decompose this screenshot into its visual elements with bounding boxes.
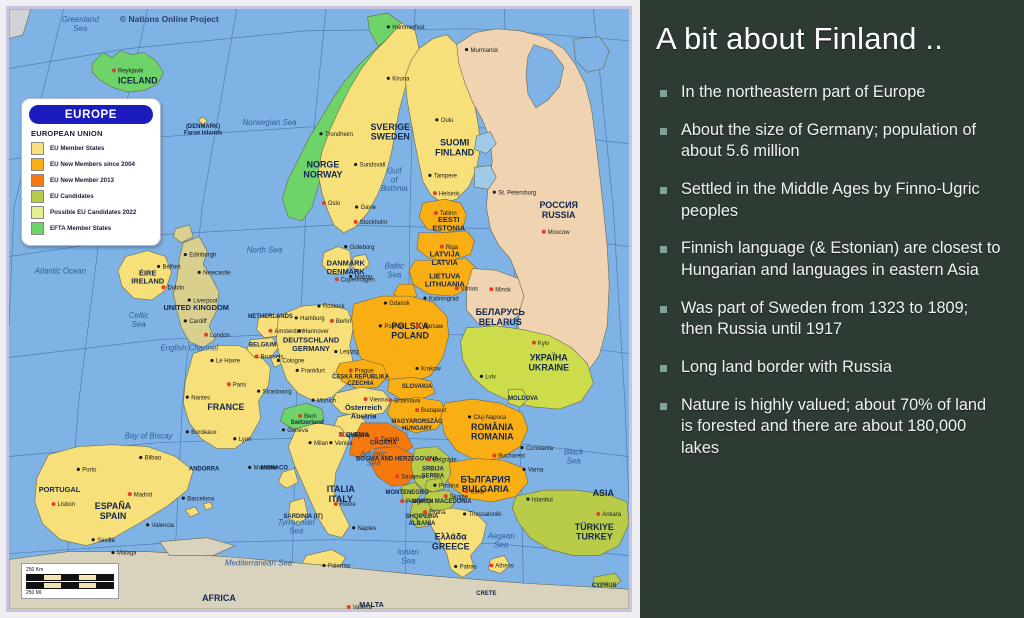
city-dot bbox=[522, 468, 525, 471]
city-dot bbox=[454, 565, 457, 568]
scale-mi-label: 250 Ml. bbox=[26, 590, 114, 596]
capital-dot bbox=[388, 398, 392, 402]
city-label: Rostock bbox=[323, 304, 344, 310]
country-label: NORGE bbox=[307, 159, 340, 169]
city-label: Newcastle bbox=[203, 271, 231, 277]
capital-dot bbox=[335, 277, 339, 281]
city-label: Vilnius bbox=[461, 286, 478, 292]
country-label: FINLAND bbox=[435, 148, 475, 158]
capital-dot bbox=[440, 245, 444, 249]
bullet-text: Was part of Sweden from 1323 to 1809; th… bbox=[681, 298, 1001, 341]
country-label: SERBIA bbox=[422, 473, 445, 479]
legend-rows: EU Member StatesEU New Members since 200… bbox=[22, 142, 160, 235]
map-pane: GreenlandSeaNorwegian SeaAtlantic OceanN… bbox=[0, 0, 640, 618]
city-label: Trondheim bbox=[325, 132, 353, 138]
capital-dot bbox=[128, 492, 132, 496]
city-label: Porto bbox=[82, 468, 97, 474]
capital-dot bbox=[268, 329, 272, 333]
city-label: Milan bbox=[314, 441, 328, 447]
city-label: Sevilla bbox=[97, 538, 115, 544]
city-label: Valletta bbox=[353, 605, 373, 609]
country-label: IRELAND bbox=[131, 277, 165, 286]
map-scale-bar: 250 Km 250 Ml. bbox=[21, 563, 119, 600]
legend-entry: EU New Member 2013 bbox=[31, 174, 160, 187]
city-label: Vienna bbox=[370, 397, 389, 403]
sea-label: Sea bbox=[494, 541, 509, 550]
city-label: Kyiv bbox=[538, 341, 549, 347]
sea-label: Bothnia bbox=[381, 184, 408, 193]
capital-dot bbox=[596, 512, 600, 516]
city-label: Hammerfest bbox=[392, 25, 425, 31]
city-label: Naples bbox=[358, 526, 377, 532]
city-label: Ljubljana bbox=[346, 433, 370, 439]
sea-label: Sea bbox=[132, 320, 147, 329]
legend-label: EU Candidates bbox=[50, 193, 94, 200]
capital-dot bbox=[255, 355, 259, 359]
city-label: Belgrade bbox=[433, 458, 457, 464]
city-label: Constanta bbox=[526, 446, 554, 452]
bullet-text: Settled in the Middle Ages by Finno-Ugri… bbox=[681, 179, 1001, 222]
city-dot bbox=[319, 132, 322, 135]
country-label: ESPAÑA bbox=[95, 501, 132, 511]
country-label: ALBANIA bbox=[409, 521, 436, 527]
country-label: LITHUANIA bbox=[425, 280, 466, 289]
capital-dot bbox=[465, 489, 469, 493]
capital-dot bbox=[374, 437, 378, 441]
city-dot bbox=[186, 396, 189, 399]
city-dot bbox=[428, 174, 431, 177]
city-label: Krakow bbox=[421, 367, 442, 373]
sea-label: Greenland bbox=[62, 15, 100, 24]
city-label: Bucharest bbox=[498, 454, 525, 460]
city-label: Belfast bbox=[163, 265, 182, 271]
sea-label: Sea bbox=[73, 24, 88, 33]
city-label: Cluj-Napoca bbox=[474, 415, 507, 421]
legend-entry: EU New Members since 2004 bbox=[31, 158, 160, 171]
country-label: NORWAY bbox=[303, 169, 342, 179]
country-label: PORTUGAL bbox=[39, 485, 81, 494]
capital-dot bbox=[330, 319, 334, 323]
city-label: Podgorica bbox=[406, 499, 433, 505]
scale-bar-km bbox=[26, 574, 114, 581]
country-label: БЪЛГАРИЯ bbox=[461, 474, 511, 484]
bullet-list: In the northeastern part of EuropeAbout … bbox=[654, 82, 1010, 460]
country-label: ROMÂNIA bbox=[471, 421, 514, 432]
city-label: Kaliningrad bbox=[429, 296, 459, 302]
capital-dot bbox=[423, 510, 427, 514]
capital-dot bbox=[455, 286, 459, 290]
legend-entry: EU Candidates bbox=[31, 190, 160, 203]
city-dot bbox=[92, 538, 95, 541]
city-label: Geneva bbox=[287, 428, 308, 434]
country-label: ITALIA bbox=[327, 484, 356, 494]
city-label: Munich bbox=[317, 398, 336, 404]
bullet-text: Nature is highly valued; about 70% of la… bbox=[681, 395, 1001, 460]
city-label: Bern bbox=[304, 414, 317, 420]
capital-dot bbox=[52, 502, 56, 506]
country-label: TURKEY bbox=[576, 532, 613, 542]
bullet-item: Long land border with Russia bbox=[654, 357, 1010, 379]
city-dot bbox=[387, 77, 390, 80]
sea-label: of bbox=[391, 175, 398, 184]
city-label: Prague bbox=[355, 369, 375, 375]
country-label: SUOMI bbox=[440, 138, 469, 148]
city-dot bbox=[468, 415, 471, 418]
legend-entry: EFTA Member States bbox=[31, 222, 160, 235]
capital-dot bbox=[364, 397, 368, 401]
city-label: St. Petersburg bbox=[498, 190, 536, 196]
city-label: Kiruna bbox=[392, 76, 410, 82]
capital-dot bbox=[444, 494, 448, 498]
city-dot bbox=[311, 399, 314, 402]
legend-label: EFTA Member States bbox=[50, 225, 111, 232]
city-dot bbox=[248, 466, 251, 469]
city-label: Athens bbox=[495, 564, 514, 570]
city-label: Bordeaux bbox=[191, 430, 216, 436]
bullet-marker-icon bbox=[660, 306, 667, 313]
country-label: CZECHIA bbox=[347, 381, 374, 387]
legend-swatch bbox=[31, 174, 44, 187]
city-label: Oslo bbox=[328, 201, 341, 207]
sea-label: North Sea bbox=[247, 246, 283, 255]
legend-swatch bbox=[31, 142, 44, 155]
city-label: Le Havre bbox=[216, 359, 241, 365]
legend-swatch bbox=[31, 206, 44, 219]
city-dot bbox=[493, 191, 496, 194]
capital-dot bbox=[395, 474, 399, 478]
bullet-item: About the size of Germany; population of… bbox=[654, 120, 1010, 163]
country-label: POLAND bbox=[391, 331, 429, 341]
capital-dot bbox=[400, 499, 404, 503]
capital-dot bbox=[433, 191, 437, 195]
country-label: УКРАЇНА bbox=[530, 352, 568, 362]
country-label: FRANCE bbox=[207, 402, 244, 412]
city-dot bbox=[257, 390, 260, 393]
country-label: SVERIGE bbox=[371, 122, 411, 132]
city-label: Minsk bbox=[495, 287, 511, 293]
bullet-marker-icon bbox=[660, 365, 667, 372]
legend-label: Possible EU Candidates 2022 bbox=[50, 209, 136, 216]
country-label: ASIA bbox=[593, 488, 615, 498]
city-label: Malaga bbox=[117, 551, 137, 557]
city-label: Venice bbox=[335, 441, 354, 447]
capital-dot bbox=[489, 287, 493, 291]
legend-entry: Possible EU Candidates 2022 bbox=[31, 206, 160, 219]
slide-title: A bit about Finland .. bbox=[656, 22, 1010, 56]
city-label: Moscow bbox=[548, 230, 570, 236]
country-label: AFRICA bbox=[202, 593, 236, 603]
city-label: Valencia bbox=[152, 523, 175, 529]
capital-dot bbox=[112, 68, 116, 72]
legend-subtitle: EUROPEAN UNION bbox=[31, 129, 160, 138]
capital-dot bbox=[162, 285, 166, 289]
city-label: Lyon bbox=[239, 437, 252, 443]
city-dot bbox=[186, 430, 189, 433]
bullet-item: Settled in the Middle Ages by Finno-Ugri… bbox=[654, 179, 1010, 222]
city-label: Stockholm bbox=[360, 220, 388, 226]
country-label: Faroe Islands bbox=[184, 131, 223, 137]
city-label: Strasbourg bbox=[263, 389, 292, 395]
capital-dot bbox=[427, 458, 431, 462]
capital-dot bbox=[354, 220, 358, 224]
city-label: Bilbao bbox=[145, 456, 162, 462]
city-label: Lviv bbox=[485, 375, 496, 381]
city-label: Edinburgh bbox=[189, 253, 216, 259]
capital-dot bbox=[340, 433, 344, 437]
bullet-marker-icon bbox=[660, 90, 667, 97]
city-dot bbox=[298, 329, 301, 332]
city-dot bbox=[157, 265, 160, 268]
country-label: UKRAINE bbox=[528, 362, 569, 372]
sea-label: Sea bbox=[566, 456, 581, 465]
country-label: ICELAND bbox=[118, 75, 158, 85]
country-label: ANDORRA bbox=[189, 466, 220, 472]
sea-label: Aegean bbox=[487, 532, 516, 541]
bullet-marker-icon bbox=[660, 128, 667, 135]
country-label: (DENMARK) bbox=[186, 124, 220, 130]
capital-dot bbox=[298, 414, 302, 418]
bullet-marker-icon bbox=[660, 187, 667, 194]
legend-entry: EU Member States bbox=[31, 142, 160, 155]
bullet-text: Long land border with Russia bbox=[681, 357, 892, 379]
country-label: Switzerland bbox=[291, 420, 324, 426]
country-label: MOLDOVA bbox=[508, 396, 539, 402]
city-label: Varna bbox=[528, 468, 544, 474]
city-label: Rome bbox=[340, 502, 357, 508]
city-label: Tallinn bbox=[440, 211, 457, 217]
bullet-item: In the northeastern part of Europe bbox=[654, 82, 1010, 104]
city-label: Berlin bbox=[336, 319, 351, 325]
city-label: Murmansk bbox=[471, 48, 499, 54]
city-label: Tampere bbox=[434, 174, 458, 180]
city-label: Frankfurt bbox=[301, 369, 325, 375]
bullet-item: Nature is highly valued; about 70% of la… bbox=[654, 395, 1010, 460]
country-label: RUSSIA bbox=[542, 210, 576, 220]
country-label: ROMANIA bbox=[471, 432, 514, 442]
sea-label: Norwegian Sea bbox=[242, 118, 297, 127]
sea-label: Bay of Biscay bbox=[125, 432, 174, 441]
sea-label: Ionian bbox=[397, 548, 419, 557]
map-canvas: GreenlandSeaNorwegian SeaAtlantic OceanN… bbox=[9, 9, 629, 609]
country-label: Austria bbox=[351, 411, 377, 420]
map-credit: © Nations Online Project bbox=[120, 14, 219, 24]
capital-dot bbox=[349, 368, 353, 372]
country-label: GERMANY bbox=[292, 344, 330, 353]
sea-label: Sea bbox=[289, 527, 304, 536]
city-label: Reykjavik bbox=[118, 69, 143, 75]
country-label: РОССИЯ bbox=[539, 200, 577, 210]
country-label: GREECE bbox=[432, 542, 470, 552]
city-dot bbox=[352, 526, 355, 529]
capital-dot bbox=[434, 211, 438, 215]
sea-label: Black bbox=[564, 448, 584, 457]
city-label: Gavle bbox=[361, 205, 377, 211]
country-label: NETHERLANDS bbox=[248, 314, 293, 320]
city-dot bbox=[423, 297, 426, 300]
legend-swatch bbox=[31, 158, 44, 171]
capital-dot bbox=[227, 382, 231, 386]
city-label: Goteborg bbox=[350, 245, 375, 251]
city-label: Bratislava bbox=[394, 398, 421, 404]
capital-dot bbox=[415, 408, 419, 412]
city-label: Brussels bbox=[261, 355, 284, 361]
city-label: Barcelona bbox=[187, 496, 214, 502]
country-label: BELGIUM bbox=[249, 343, 276, 349]
city-dot bbox=[282, 428, 285, 431]
capital-dot bbox=[532, 341, 536, 345]
sea-label: Sea bbox=[387, 270, 402, 279]
city-label: Budapest bbox=[421, 408, 446, 414]
city-dot bbox=[210, 359, 213, 362]
bullet-item: Finnish language (& Estonian) are closes… bbox=[654, 238, 1010, 281]
country-label: MAGYARORSZÁG bbox=[391, 418, 443, 425]
city-dot bbox=[349, 275, 352, 278]
city-label: Helsinki bbox=[439, 191, 460, 197]
city-dot bbox=[463, 512, 466, 515]
city-label: Skopje bbox=[450, 494, 469, 500]
city-label: Oulu bbox=[441, 118, 454, 124]
city-label: Liverpool bbox=[193, 298, 217, 304]
city-dot bbox=[329, 441, 332, 444]
country-label: HUNGARY bbox=[402, 426, 432, 432]
bullet-marker-icon bbox=[660, 403, 667, 410]
country-label: ESTONIA bbox=[432, 223, 465, 232]
bullet-marker-icon bbox=[660, 246, 667, 253]
city-dot bbox=[182, 497, 185, 500]
bullet-text: In the northeastern part of Europe bbox=[681, 82, 925, 104]
city-label: Malmo bbox=[355, 275, 374, 281]
city-dot bbox=[277, 359, 280, 362]
city-dot bbox=[433, 484, 436, 487]
city-label: Sofia bbox=[471, 489, 485, 495]
country-label: MONTENEGRO bbox=[386, 490, 430, 496]
city-label: Sundsvall bbox=[360, 163, 386, 169]
sea-label: Celtic bbox=[129, 311, 149, 320]
city-label: Hannover bbox=[303, 329, 329, 335]
city-label: Tirana bbox=[429, 510, 446, 516]
legend-swatch bbox=[31, 190, 44, 203]
city-label: Patras bbox=[460, 565, 477, 571]
city-dot bbox=[184, 253, 187, 256]
country-label: UNITED KINGDOM bbox=[163, 303, 228, 312]
capital-dot bbox=[204, 333, 208, 337]
city-label: Ankara bbox=[602, 512, 622, 518]
city-dot bbox=[295, 316, 298, 319]
city-dot bbox=[384, 301, 387, 304]
map-frame: GreenlandSeaNorwegian SeaAtlantic OceanN… bbox=[6, 6, 632, 612]
capital-dot bbox=[492, 454, 496, 458]
capital-dot bbox=[334, 502, 338, 506]
city-dot bbox=[77, 468, 80, 471]
city-dot bbox=[480, 375, 483, 378]
sea-label: Sea bbox=[401, 556, 416, 565]
city-label: Leipzig bbox=[340, 350, 359, 356]
city-dot bbox=[334, 350, 337, 353]
city-dot bbox=[309, 441, 312, 444]
capital-dot bbox=[542, 230, 546, 234]
country-label: SRBIJA bbox=[422, 466, 444, 472]
city-dot bbox=[139, 456, 142, 459]
city-label: Zagreb bbox=[380, 437, 400, 443]
sea-label: English Channel bbox=[160, 344, 218, 353]
scale-bar-mi bbox=[26, 582, 114, 589]
city-dot bbox=[184, 319, 187, 322]
city-label: Poznan bbox=[384, 324, 404, 330]
legend-label: EU New Members since 2004 bbox=[50, 161, 135, 168]
scale-km-label: 250 Km bbox=[26, 567, 114, 573]
city-dot bbox=[379, 324, 382, 327]
capital-dot bbox=[416, 324, 420, 328]
city-label: Lisbon bbox=[58, 502, 76, 508]
country-label: BOSNIA AND HERZEGOVINA bbox=[356, 456, 439, 462]
city-dot bbox=[198, 271, 201, 274]
city-label: Paris bbox=[233, 382, 247, 388]
country-label: LATVIA bbox=[432, 258, 459, 267]
country-label: CYPRUS bbox=[592, 583, 617, 589]
bullet-text: Finnish language (& Estonian) are closes… bbox=[681, 238, 1001, 281]
city-label: Dublin bbox=[167, 285, 184, 291]
city-label: Madrid bbox=[134, 492, 152, 498]
city-dot bbox=[354, 163, 357, 166]
city-dot bbox=[415, 367, 418, 370]
city-label: Palermo bbox=[328, 564, 351, 570]
slide: GreenlandSeaNorwegian SeaAtlantic OceanN… bbox=[0, 0, 1024, 618]
city-dot bbox=[520, 446, 523, 449]
country-label: SWEDEN bbox=[371, 132, 410, 142]
sea-label: Mediterranean Sea bbox=[225, 558, 293, 567]
city-label: Riga bbox=[446, 245, 459, 251]
capital-dot bbox=[489, 563, 493, 567]
city-dot bbox=[296, 369, 299, 372]
city-dot bbox=[111, 551, 114, 554]
city-dot bbox=[233, 437, 236, 440]
legend-label: EU Member States bbox=[50, 145, 104, 152]
city-dot bbox=[317, 304, 320, 307]
city-label: Gdansk bbox=[389, 301, 409, 307]
city-dot bbox=[355, 205, 358, 208]
legend-swatch bbox=[31, 222, 44, 235]
city-label: Sarajevo bbox=[401, 475, 425, 481]
sea-label: Baltic bbox=[385, 261, 404, 270]
city-label: Cologne bbox=[282, 359, 305, 365]
city-label: Cardiff bbox=[189, 319, 207, 325]
city-label: Marseille bbox=[254, 466, 278, 472]
legend-title: EUROPE bbox=[29, 105, 153, 124]
sea-label: Gulf bbox=[387, 166, 402, 175]
city-dot bbox=[344, 245, 347, 248]
city-dot bbox=[526, 498, 529, 501]
map-legend: EUROPE EUROPEAN UNION EU Member StatesEU… bbox=[21, 98, 161, 246]
country-label: SLOVAKIA bbox=[402, 384, 433, 390]
legend-label: EU New Member 2013 bbox=[50, 177, 114, 184]
capital-dot bbox=[347, 605, 351, 609]
country-label: Ελλάδα bbox=[435, 532, 468, 542]
city-label: Pristina bbox=[439, 483, 459, 489]
city-dot bbox=[188, 299, 191, 302]
country-label: CRETE bbox=[476, 591, 496, 597]
city-dot bbox=[387, 25, 390, 28]
country-label: BULGARIA bbox=[462, 484, 510, 494]
sea-label: Atlantic Ocean bbox=[34, 266, 87, 275]
city-label: Nantes bbox=[191, 395, 210, 401]
city-dot bbox=[435, 118, 438, 121]
capital-dot bbox=[322, 201, 326, 205]
text-pane: A bit about Finland .. In the northeaste… bbox=[640, 0, 1024, 618]
city-label: London bbox=[210, 333, 230, 339]
bullet-text: About the size of Germany; population of… bbox=[681, 120, 1001, 163]
city-label: Hamburg bbox=[300, 316, 324, 322]
city-label: Istanbul bbox=[532, 497, 553, 503]
